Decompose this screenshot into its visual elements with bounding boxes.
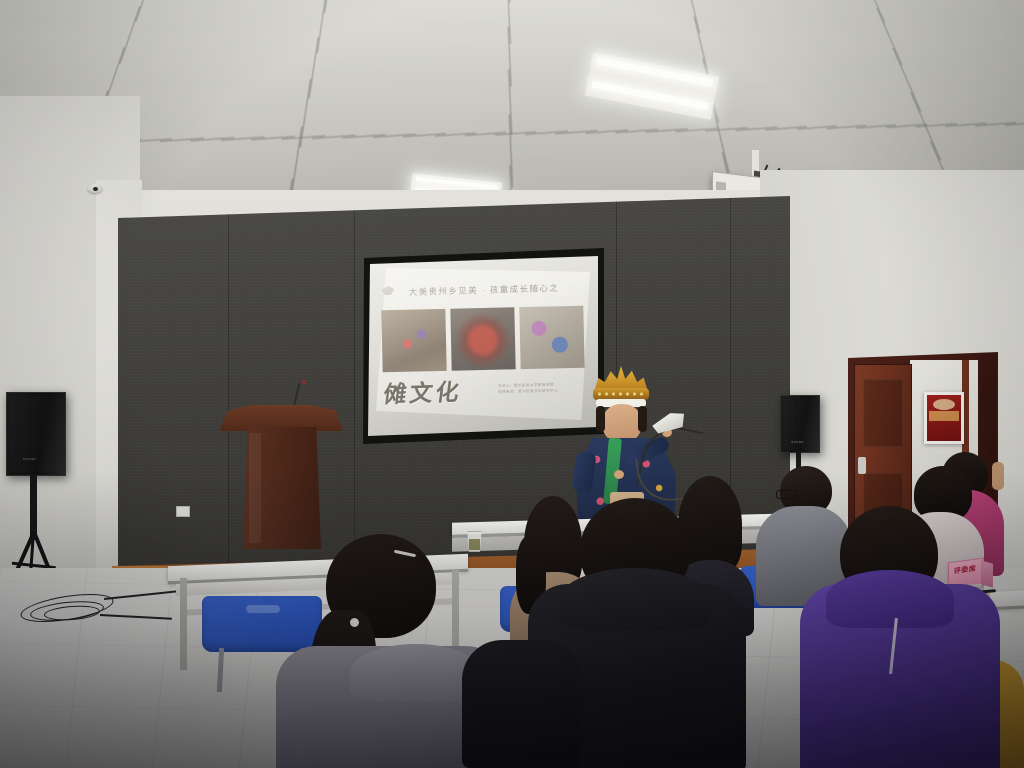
wooden-podium (219, 399, 343, 549)
door-handle-icon[interactable] (858, 457, 866, 474)
dome-camera-icon (88, 182, 102, 193)
desk-leg (180, 578, 187, 670)
speaker-cabinet: SOUND (6, 392, 66, 476)
hood (826, 570, 954, 628)
presenter-hair-left (596, 406, 605, 432)
presenter-hand (614, 470, 624, 479)
camera-lens (93, 187, 98, 191)
person-student-purple-hoodie (800, 506, 1000, 768)
hair-tie-icon (350, 618, 359, 627)
podium-highlight (249, 433, 261, 543)
projection-screen: 大美贵州乡见美 · 孩童成长随心之 傩文化 主讲人：贵州民族大学民族学院 指导老… (368, 256, 598, 436)
person-foreground-dark-shoulder (462, 640, 582, 768)
chair-handle-slot (246, 605, 280, 613)
door-panel-upper (863, 379, 903, 447)
speaker-cabinet: SOUND (780, 395, 820, 453)
speaker-brand-label: SOUND (791, 440, 804, 444)
pa-speaker-left: SOUND (4, 392, 84, 592)
chair-leg (217, 648, 224, 692)
classroom-scene: 大美贵州乡见美 · 孩童成长随心之 傩文化 主讲人：贵州民族大学民族学院 指导老… (0, 0, 1024, 768)
torso (462, 640, 582, 768)
wall-outlet (176, 506, 190, 517)
presenter-hair-right (638, 406, 647, 432)
hood (560, 568, 710, 630)
presenter-crown-ornaments (596, 390, 646, 398)
microphone-head-icon (302, 380, 306, 384)
hall-poster (924, 392, 964, 444)
screen-glare (368, 256, 598, 436)
speaker-brand-label: SOUND (23, 457, 36, 461)
speaker-stand-pole (30, 474, 37, 540)
raised-hand (992, 462, 1004, 490)
speaker-grille (10, 396, 62, 472)
glasses-icon (776, 490, 798, 499)
poster-title-band (929, 411, 959, 421)
poster-graphic (933, 399, 955, 410)
